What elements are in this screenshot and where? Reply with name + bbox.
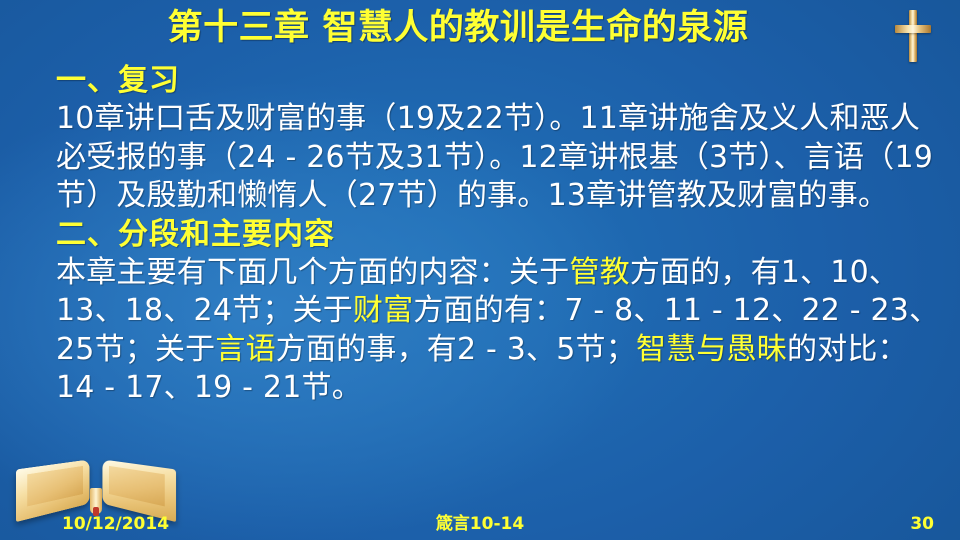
section-heading-2: 二、分段和主要内容: [56, 216, 940, 254]
highlight-run-wealth: 财富: [353, 293, 413, 328]
highlight-run-discipline: 管教: [569, 255, 629, 290]
slide-title: 第十三章 智慧人的教训是生命的泉源: [0, 8, 960, 48]
slide-body: 一、复习 10章讲口舌及财富的事（19及22节）。11章讲施舍及义人和恶人必受报…: [56, 62, 940, 408]
footer-book-title: 箴言10-14: [0, 509, 960, 534]
section-paragraph-1: 10章讲口舌及财富的事（19及22节）。11章讲施舍及义人和恶人必受报的事（24…: [56, 100, 940, 215]
book-page-right-inner: [109, 466, 165, 507]
text-run: 本章主要有下面几个方面的内容：关于: [56, 255, 569, 290]
footer-page-number: 30: [910, 514, 934, 534]
highlight-run-speech: 言语: [215, 332, 275, 367]
text-run: 方面的事，有2 - 3、5节；: [276, 332, 636, 367]
slide-canvas: 第十三章 智慧人的教训是生命的泉源 一、复习 10章讲口舌及财富的事（19及22…: [0, 0, 960, 540]
highlight-run-wisdom-folly: 智慧与愚昧: [636, 332, 787, 367]
book-page-left-inner: [27, 466, 83, 507]
text-run: 10章讲口舌及财富的事（19及22节）。11章讲施舍及义人和恶人必受报的事（24…: [56, 101, 933, 213]
section-heading-1: 一、复习: [56, 62, 940, 100]
section-paragraph-2: 本章主要有下面几个方面的内容：关于管教方面的，有1、10、13、18、24节；关…: [56, 254, 940, 408]
slide-footer: 10/12/2014 箴言10-14 30: [0, 508, 960, 536]
